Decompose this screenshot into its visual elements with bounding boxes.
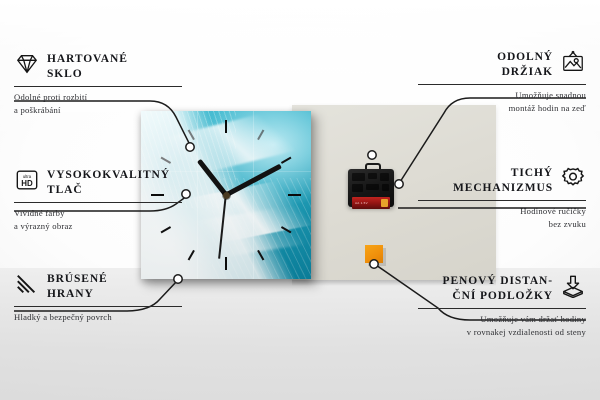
ultra-hd-icon: ultra HD [14,168,40,192]
feature-silent-mechanism: TICHÝ MECHANIZMUS Hodinové ručičky bez z… [418,166,586,230]
divider [14,86,182,87]
feature-title-line2: ČNÍ PODLOŽKY [418,289,553,304]
gear-icon [560,166,586,190]
feature-beveled-edges: BRÚSENÉ HRANY Hladký a bezpečný povrch [14,272,182,324]
feature-desc-line2: a výrazný obraz [14,220,182,232]
beveled-edges-icon [14,272,40,296]
feature-title-line1: BRÚSENÉ [47,272,108,287]
connector-dot-holder [395,180,403,188]
feature-title-line1: TICHÝ [418,166,553,181]
svg-text:HD: HD [21,179,33,188]
feature-title-line1: VYSOKOKVALITNÝ [47,168,170,183]
feature-title-line2: DRŽIAK [418,65,553,80]
feature-title-line2: SKLO [47,67,128,82]
connector-dot-glass [186,143,194,151]
feature-tempered-glass: HARTOVANÉ SKLO Odolné proti rozbití a po… [14,52,182,116]
diamond-icon [14,52,40,76]
feature-desc-line2: a poškrábání [14,104,182,116]
feature-desc-line1: Umožňuje vám držať hodiny [418,313,586,325]
feature-desc-line1: Umožňuje snadnou [418,89,586,101]
feature-title-line2: TLAČ [47,183,170,198]
divider [418,308,586,309]
feature-high-quality-print: ultra HD VYSOKOKVALITNÝ TLAČ Vividné far… [14,168,182,232]
feature-desc-line1: Odolné proti rozbití [14,91,182,103]
feature-title-line1: ODOLNÝ [418,50,553,65]
product-infographic: AA 1.5V [0,0,600,400]
feature-desc-line2: bez zvuku [418,218,586,230]
connector-dot-mechanism [368,151,376,159]
feature-title-line1: PENOVÝ DISTAN- [418,274,553,289]
divider [418,84,586,85]
feature-desc-line1: Hladký a bezpečný povrch [14,311,182,323]
connector-dot-print [182,190,190,198]
picture-hanger-icon [560,50,586,74]
feature-title-line1: HARTOVANÉ [47,52,128,67]
connector-dot-foam [370,260,378,268]
feature-desc-line2: montáž hodin na zeď [418,102,586,114]
feature-title-line2: MECHANIZMUS [418,181,553,196]
feature-desc-line1: Hodinové ručičky [418,205,586,217]
foam-spacer-icon [560,274,586,298]
divider [14,202,182,203]
divider [418,200,586,201]
feature-desc-line1: Vividné farby [14,207,182,219]
divider [14,306,182,307]
feature-foam-spacers: PENOVÝ DISTAN- ČNÍ PODLOŽKY Umožňuje vám… [418,274,586,338]
feature-desc-line2: v rovnakej vzdialenosti od steny [418,326,586,338]
feature-durable-holder: ODOLNÝ DRŽIAK Umožňuje snadnou montáž ho… [418,50,586,114]
feature-title-line2: HRANY [47,287,108,302]
